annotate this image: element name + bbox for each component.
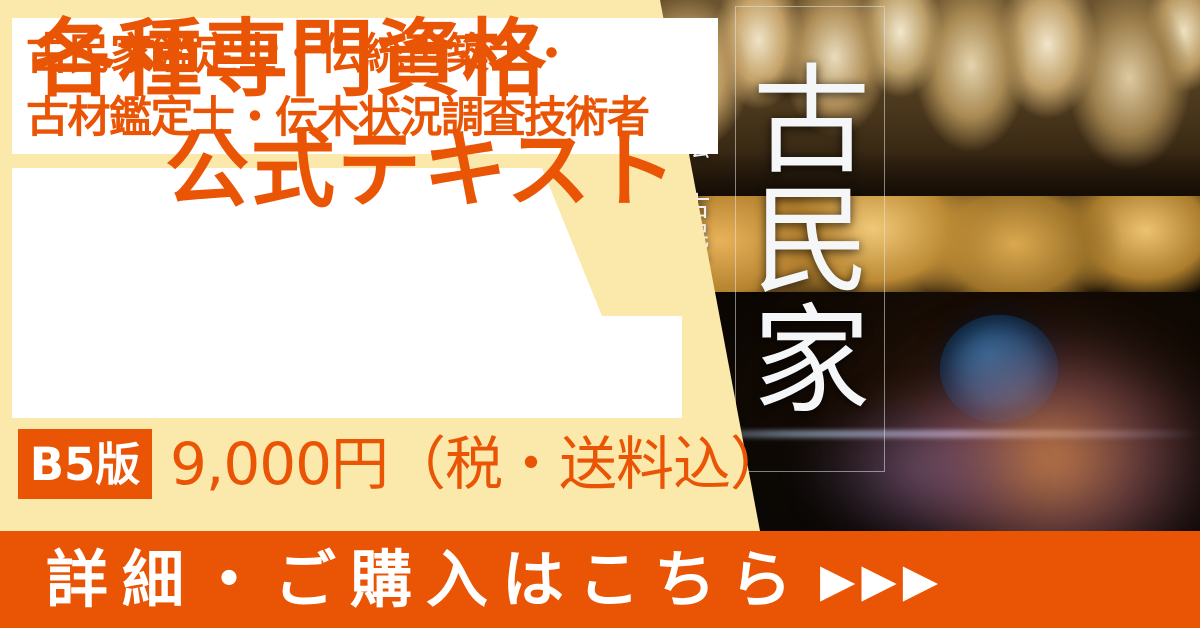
format-badge: B5版	[18, 429, 152, 499]
format-badge-label: B5版	[30, 442, 141, 487]
cover-title-text: 古民家	[743, 8, 877, 468]
cta-label[interactable]: 詳細・ご購入はこちら	[46, 549, 806, 611]
promo-banner[interactable]: 古民家 伝統構法 古民家活用のための調査と再生の 古民家鑑定士・伝統再築士・ 古…	[0, 0, 1200, 628]
triple-arrow-right-icon: ▶▶▶	[820, 557, 944, 603]
headline-line-1: 各種専門資格	[32, 17, 548, 101]
headline-line-2: 公式テキスト	[165, 128, 678, 212]
price-text: 9,000円（税・送料込）	[170, 432, 787, 496]
cta-bar[interactable]: 詳細・ご購入はこちら ▶▶▶	[0, 531, 1200, 628]
